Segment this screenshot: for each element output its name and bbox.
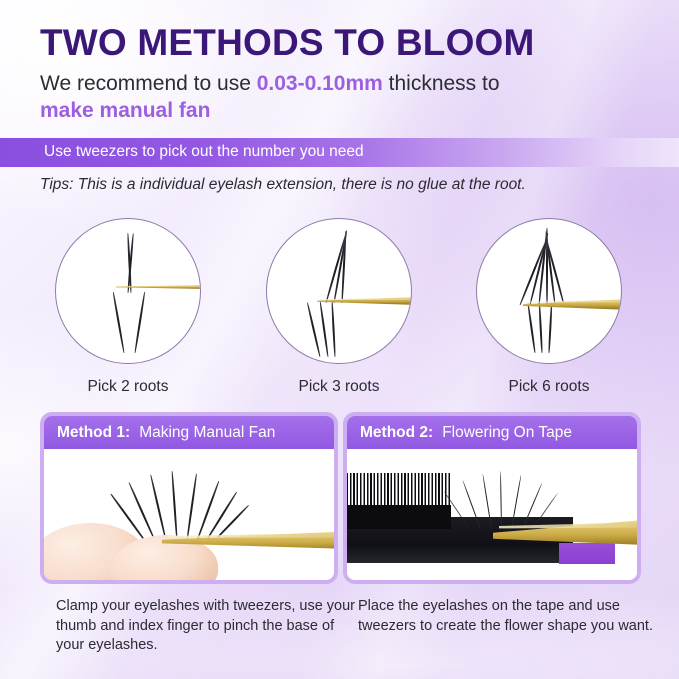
pick-roots-item-3: Pick 6 roots [443,218,655,396]
subtitle-text-part1: We recommend to use [40,72,257,95]
instruction-banner-label: Use tweezers to pick out the number you … [44,143,364,161]
pick-roots-row: Pick 2 roots Pick 3 roots [0,218,679,398]
pick-roots-item-1: Pick 2 roots [22,218,234,396]
pick-roots-item-2: Pick 3 roots [233,218,445,396]
pick-roots-label-3: Pick 6 roots [443,378,655,396]
method-1-caption: Clamp your eyelashes with tweezers, use … [56,597,356,656]
method-2-photo [347,449,637,580]
tweezers-holding-lashes-icon [476,218,622,364]
method-2-label: Method 2: [360,424,433,442]
page-title: TWO METHODS TO BLOOM [40,22,535,64]
pick-roots-label-2: Pick 3 roots [233,378,445,396]
method-1-header: Method 1: Making Manual Fan [44,416,334,449]
method-2-panel: Method 2: Flowering On Tape [343,412,641,584]
method-2-header: Method 2: Flowering On Tape [347,416,637,449]
tweezers-holding-lashes-icon [55,218,201,364]
method-1-panel: Method 1: Making Manual Fan [40,412,338,584]
subtitle-text-part2: thickness to [383,72,500,95]
method-1-photo [44,449,334,580]
tweezers-holding-lashes-icon [266,218,412,364]
purple-tape-strip [559,543,615,565]
method-2-caption: Place the eyelashes on the tape and use … [358,597,658,636]
infographic-page: TWO METHODS TO BLOOM We recommend to use… [0,0,679,679]
photo-bottom-edge [347,564,637,580]
subtitle-thickness-highlight: 0.03-0.10mm [257,72,383,95]
pick-roots-label-1: Pick 2 roots [22,378,234,396]
tips-note: Tips: This is a individual eyelash exten… [40,176,526,194]
subtitle-line2: make manual fan [40,97,500,124]
method-1-title: Making Manual Fan [139,424,275,442]
subtitle: We recommend to use 0.03-0.10mm thicknes… [40,70,500,124]
method-1-label: Method 1: [57,424,130,442]
method-2-title: Flowering On Tape [442,424,572,442]
